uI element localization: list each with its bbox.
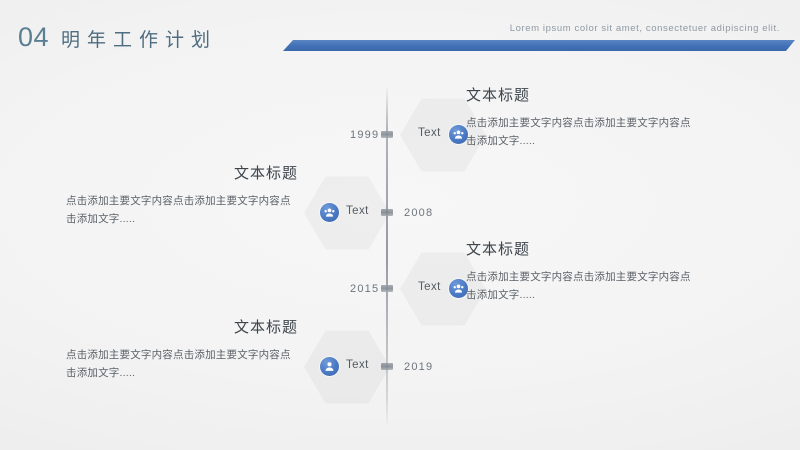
timeline-content-1: 文本标题 点击添加主要文字内容点击添加主要文字内容点击添加文字..... [466, 88, 698, 150]
timeline-text-label-3: Text [418, 281, 441, 293]
single-person-icon [320, 357, 339, 376]
timeline-year-3: 2015 [350, 283, 379, 295]
timeline-marker-4: Text [304, 329, 390, 405]
timeline-entry-4[interactable]: 2019 Text 文本标题 点击添加主要文字内容点击添加主要文字内容点击添加文… [14, 320, 400, 416]
header-subtitle: Lorem ipsum color sit amet, consectetuer… [510, 23, 780, 34]
timeline-body-4: 点击添加主要文字内容点击添加主要文字内容点击添加文字..... [66, 346, 298, 383]
timeline-body-2: 点击添加主要文字内容点击添加主要文字内容点击添加文字..... [66, 192, 298, 229]
timeline-year-4: 2019 [404, 361, 433, 373]
timeline-content-2: 文本标题 点击添加主要文字内容点击添加主要文字内容点击添加文字..... [66, 166, 298, 228]
timeline-content-4: 文本标题 点击添加主要文字内容点击添加主要文字内容点击添加文字..... [66, 320, 298, 382]
section-title: 明年工作计划 [61, 31, 217, 50]
group-people-icon [320, 203, 339, 222]
timeline-entry-1[interactable]: 1999 Text 文本标题 点击添加主要文字内容点击添加主要文字内容点击添加文… [386, 88, 786, 184]
timeline-title-4: 文本标题 [66, 320, 298, 337]
timeline-text-label-2: Text [346, 205, 369, 217]
timeline-title-1: 文本标题 [466, 88, 698, 105]
timeline-year-1: 1999 [350, 129, 379, 141]
timeline-body-3: 点击添加主要文字内容点击添加主要文字内容点击添加文字..... [466, 268, 698, 305]
timeline-text-label-1: Text [418, 127, 441, 139]
page-title: 04 明年工作计划 [18, 24, 217, 51]
slide-canvas: 04 明年工作计划 Lorem ipsum color sit amet, co… [0, 0, 800, 450]
timeline-content-3: 文本标题 点击添加主要文字内容点击添加主要文字内容点击添加文字..... [466, 242, 698, 304]
timeline-text-label-4: Text [346, 359, 369, 371]
header-accent-ribbon [283, 40, 795, 51]
section-number: 04 [18, 24, 49, 51]
timeline-title-2: 文本标题 [66, 166, 298, 183]
slide-header: 04 明年工作计划 Lorem ipsum color sit amet, co… [0, 0, 800, 70]
timeline-body-1: 点击添加主要文字内容点击添加主要文字内容点击添加文字..... [466, 114, 698, 151]
timeline-entry-3[interactable]: 2015 Text 文本标题 点击添加主要文字内容点击添加主要文字内容点击添加文… [386, 242, 786, 338]
timeline-entry-2[interactable]: 2008 Text 文本标题 点击添加主要文字内容点击添加主要文字内容点击添加文… [14, 166, 400, 262]
timeline-year-2: 2008 [404, 207, 433, 219]
timeline-marker-2: Text [304, 175, 390, 251]
timeline-title-3: 文本标题 [466, 242, 698, 259]
